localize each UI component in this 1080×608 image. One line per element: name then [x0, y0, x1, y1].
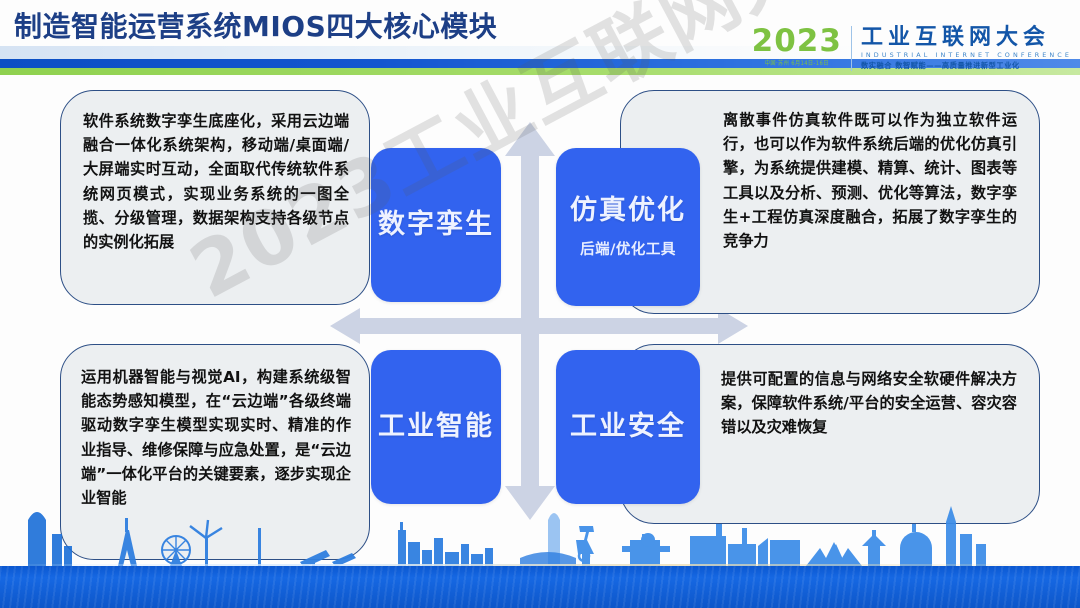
footer-band [0, 566, 1080, 608]
logo-divider [851, 26, 852, 71]
slide-canvas: 制造智能运营系统MIOS四大核心模块 2023 中国·苏州 6月14日-16日 … [0, 0, 1080, 608]
module-box-simulation-optimization[interactable]: 仿真优化 后端/优化工具 [556, 148, 700, 306]
module-box-industrial-intelligence[interactable]: 工业智能 [371, 350, 501, 504]
logo-year: 2023 [752, 26, 842, 57]
module-subtitle: 后端/优化工具 [580, 240, 676, 260]
logo-name-cn: 工业互联网大会 [861, 26, 1072, 50]
city-skyline-decoration [0, 506, 1080, 570]
module-title: 工业智能 [378, 410, 494, 444]
logo-name-block: 工业互联网大会 INDUSTRIAL INTERNET CONFERENCE 数… [861, 26, 1072, 71]
module-title: 仿真优化 [570, 194, 686, 228]
description-text: 软件系统数字孪生底座化，采用云边端融合一体化系统架构，移动端/桌面端/大屏端实时… [61, 91, 369, 254]
description-card-digital-twin: 软件系统数字孪生底座化，采用云边端融合一体化系统架构，移动端/桌面端/大屏端实时… [60, 90, 370, 305]
conference-logo: 2023 中国·苏州 6月14日-16日 工业互联网大会 INDUSTRIAL … [752, 26, 1072, 71]
logo-name-en: INDUSTRIAL INTERNET CONFERENCE [861, 51, 1072, 60]
page-title: 制造智能运营系统MIOS四大核心模块 [14, 10, 497, 44]
module-box-digital-twin[interactable]: 数字孪生 [371, 148, 501, 302]
module-title: 数字孪生 [378, 208, 494, 242]
logo-date: 中国·苏州 6月14日-16日 [765, 59, 829, 68]
logo-tagline: 数实融合 数智赋能——高质量推进新型工业化 [861, 61, 1072, 71]
module-title: 工业安全 [570, 410, 686, 444]
module-box-industrial-security[interactable]: 工业安全 [556, 350, 700, 504]
logo-year-block: 2023 中国·苏州 6月14日-16日 [752, 26, 851, 68]
description-text: 运用机器智能与视觉AI，构建系统级智能态势感知模型，在“云边端”各级终端驱动数字… [61, 345, 369, 510]
